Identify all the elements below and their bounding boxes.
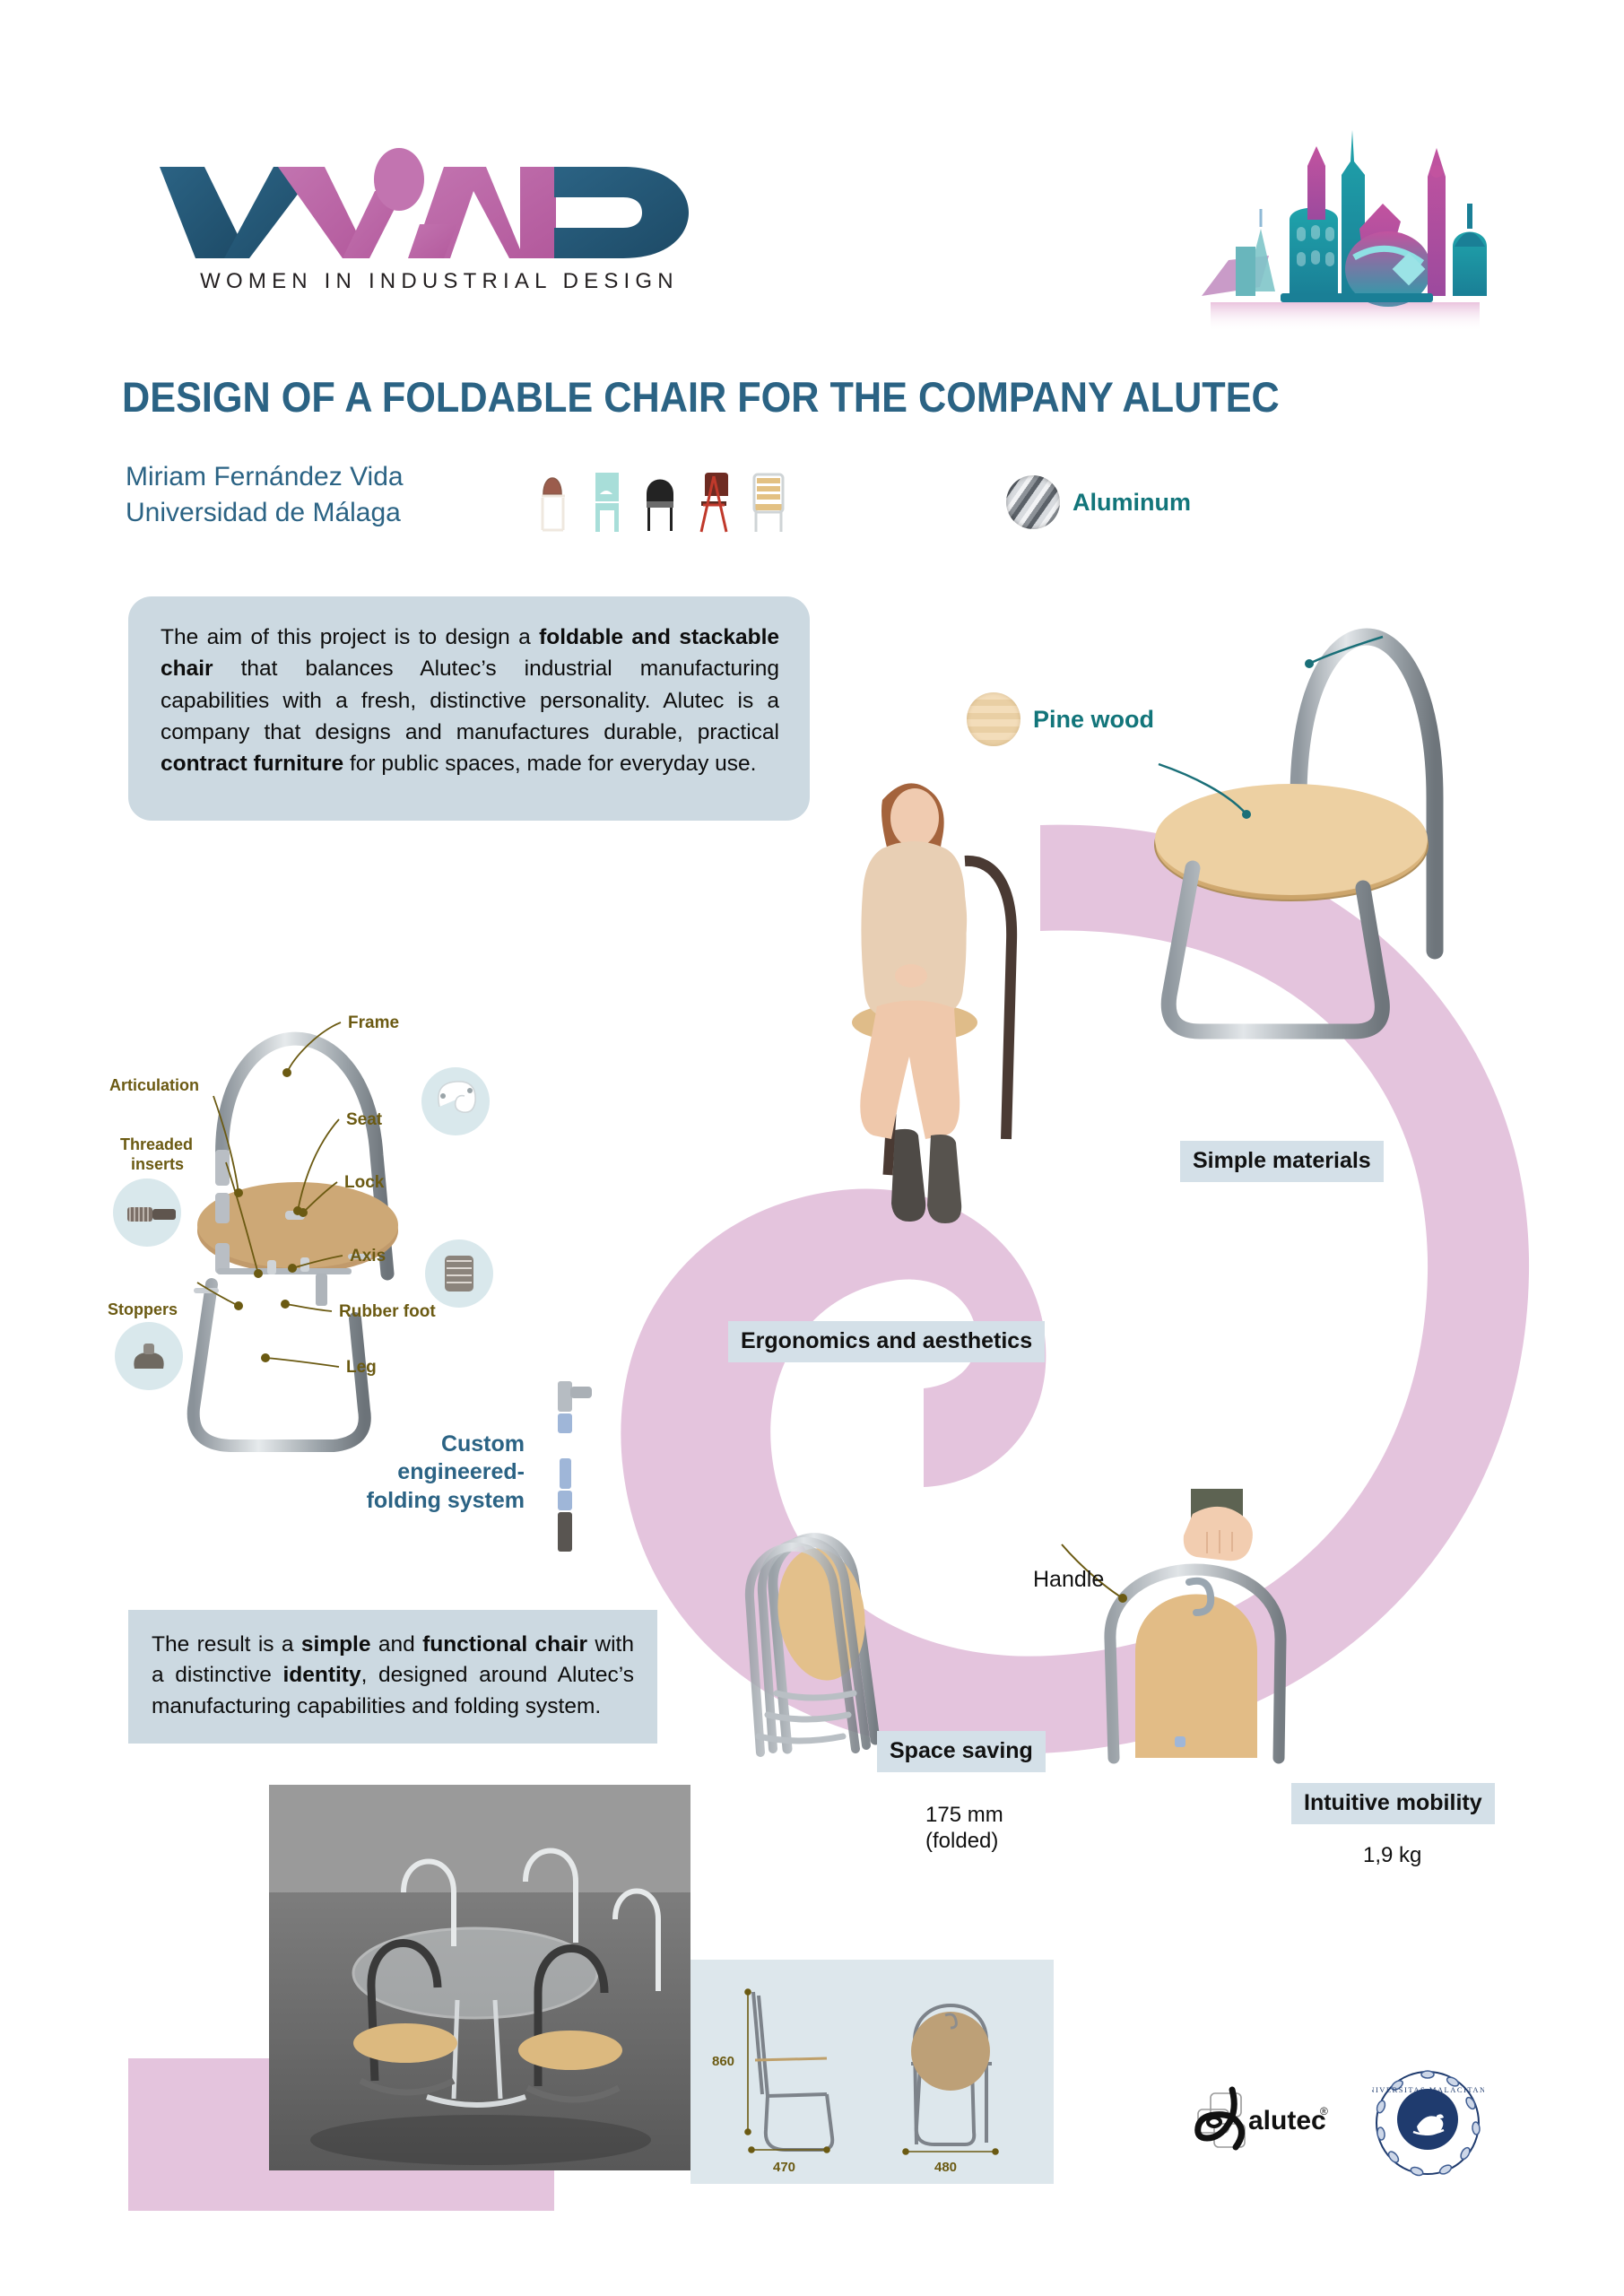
badge-simple-materials: Simple materials	[1180, 1141, 1384, 1182]
pine-wood-swatch-icon	[967, 692, 1020, 746]
author-affiliation: Universidad de Málaga	[126, 495, 592, 531]
exploded-label-frame: Frame	[348, 1013, 399, 1032]
poster-root: WOMEN IN INDUSTRIAL DESIGN	[0, 0, 1624, 2296]
exploded-label-rubber-foot: Rubber foot	[339, 1302, 436, 1321]
badge-ergonomics: Ergonomics and aesthetics	[728, 1321, 1045, 1362]
intro-text: The aim of this project is to design a f…	[161, 625, 779, 776]
material-callout-aluminum: Aluminum	[1006, 475, 1191, 529]
city-skyline-icon	[1175, 121, 1524, 332]
note-weight: 1,9 kg	[1363, 1843, 1421, 1869]
result-text-box: The result is a simple and functional ch…	[128, 1610, 657, 1744]
dimension-height: 860	[712, 2054, 734, 2069]
intro-text-box: The aim of this project is to design a f…	[128, 596, 810, 821]
reference-chair-thumbnails	[531, 459, 890, 535]
seated-person-photo	[789, 753, 1085, 1291]
chair-thumb-black	[638, 462, 682, 535]
aluminum-swatch-icon	[1006, 475, 1060, 529]
author-block: Miriam Fernández Vida Universidad de Mál…	[126, 459, 592, 531]
university-seal-text: UNIVERSITAS MALACITANA	[1372, 2085, 1484, 2094]
material-label-aluminum: Aluminum	[1073, 489, 1191, 517]
title-divider	[122, 433, 1507, 441]
exploded-label-threaded-inserts-2: inserts	[131, 1155, 184, 1173]
chair-thumb-wood	[746, 462, 789, 535]
folding-mechanism-detail	[538, 1381, 592, 1561]
exploded-label-articulation: Articulation	[109, 1076, 199, 1094]
table-setting-render-photo	[269, 1785, 690, 2170]
dimension-width: 480	[934, 2160, 957, 2175]
page-title: DESIGN OF A FOLDABLE CHAIR FOR THE COMPA…	[122, 372, 1417, 422]
alutec-registered-mark: ®	[1320, 2105, 1328, 2118]
chair-thumb-red	[692, 462, 735, 535]
wind-logo-subtitle: WOMEN IN INDUSTRIAL DESIGN	[184, 269, 695, 294]
badge-intuitive-mobility: Intuitive mobility	[1291, 1783, 1495, 1824]
author-name: Miriam Fernández Vida	[126, 459, 592, 495]
university-of-malaga-seal: UNIVERSITAS MALACITANA	[1372, 2067, 1484, 2179]
exploded-label-threaded-inserts-1: Threaded	[120, 1135, 193, 1153]
chair-thumb-rattan	[531, 462, 574, 535]
exploded-label-seat: Seat	[346, 1110, 383, 1129]
exploded-label-stoppers: Stoppers	[108, 1300, 178, 1318]
exploded-label-lock: Lock	[344, 1173, 385, 1192]
material-callout-pine-wood: Pine wood	[967, 692, 1154, 746]
note-folded-size: 175 mm (folded)	[925, 1803, 1003, 1855]
alutec-wordmark: alutec	[1248, 2106, 1326, 2135]
note-handle: Handle	[1033, 1566, 1104, 1593]
result-text: The result is a simple and functional ch…	[152, 1632, 634, 1718]
material-label-pine-wood: Pine wood	[1033, 706, 1154, 734]
technical-drawing: 860 470 480	[690, 1960, 1054, 2184]
custom-folding-caption: Custom engineered-folding system	[332, 1431, 525, 1515]
alutec-logo: alutec ®	[1193, 2081, 1336, 2161]
chair-thumb-mint	[585, 462, 628, 535]
badge-space-saving: Space saving	[877, 1731, 1046, 1772]
handle-carry-render	[1058, 1489, 1354, 1803]
exploded-label-leg: Leg	[346, 1358, 377, 1377]
hero-chair-render	[1058, 529, 1471, 1121]
dimension-depth: 470	[773, 2160, 795, 2175]
exploded-label-axis: Axis	[350, 1247, 386, 1265]
